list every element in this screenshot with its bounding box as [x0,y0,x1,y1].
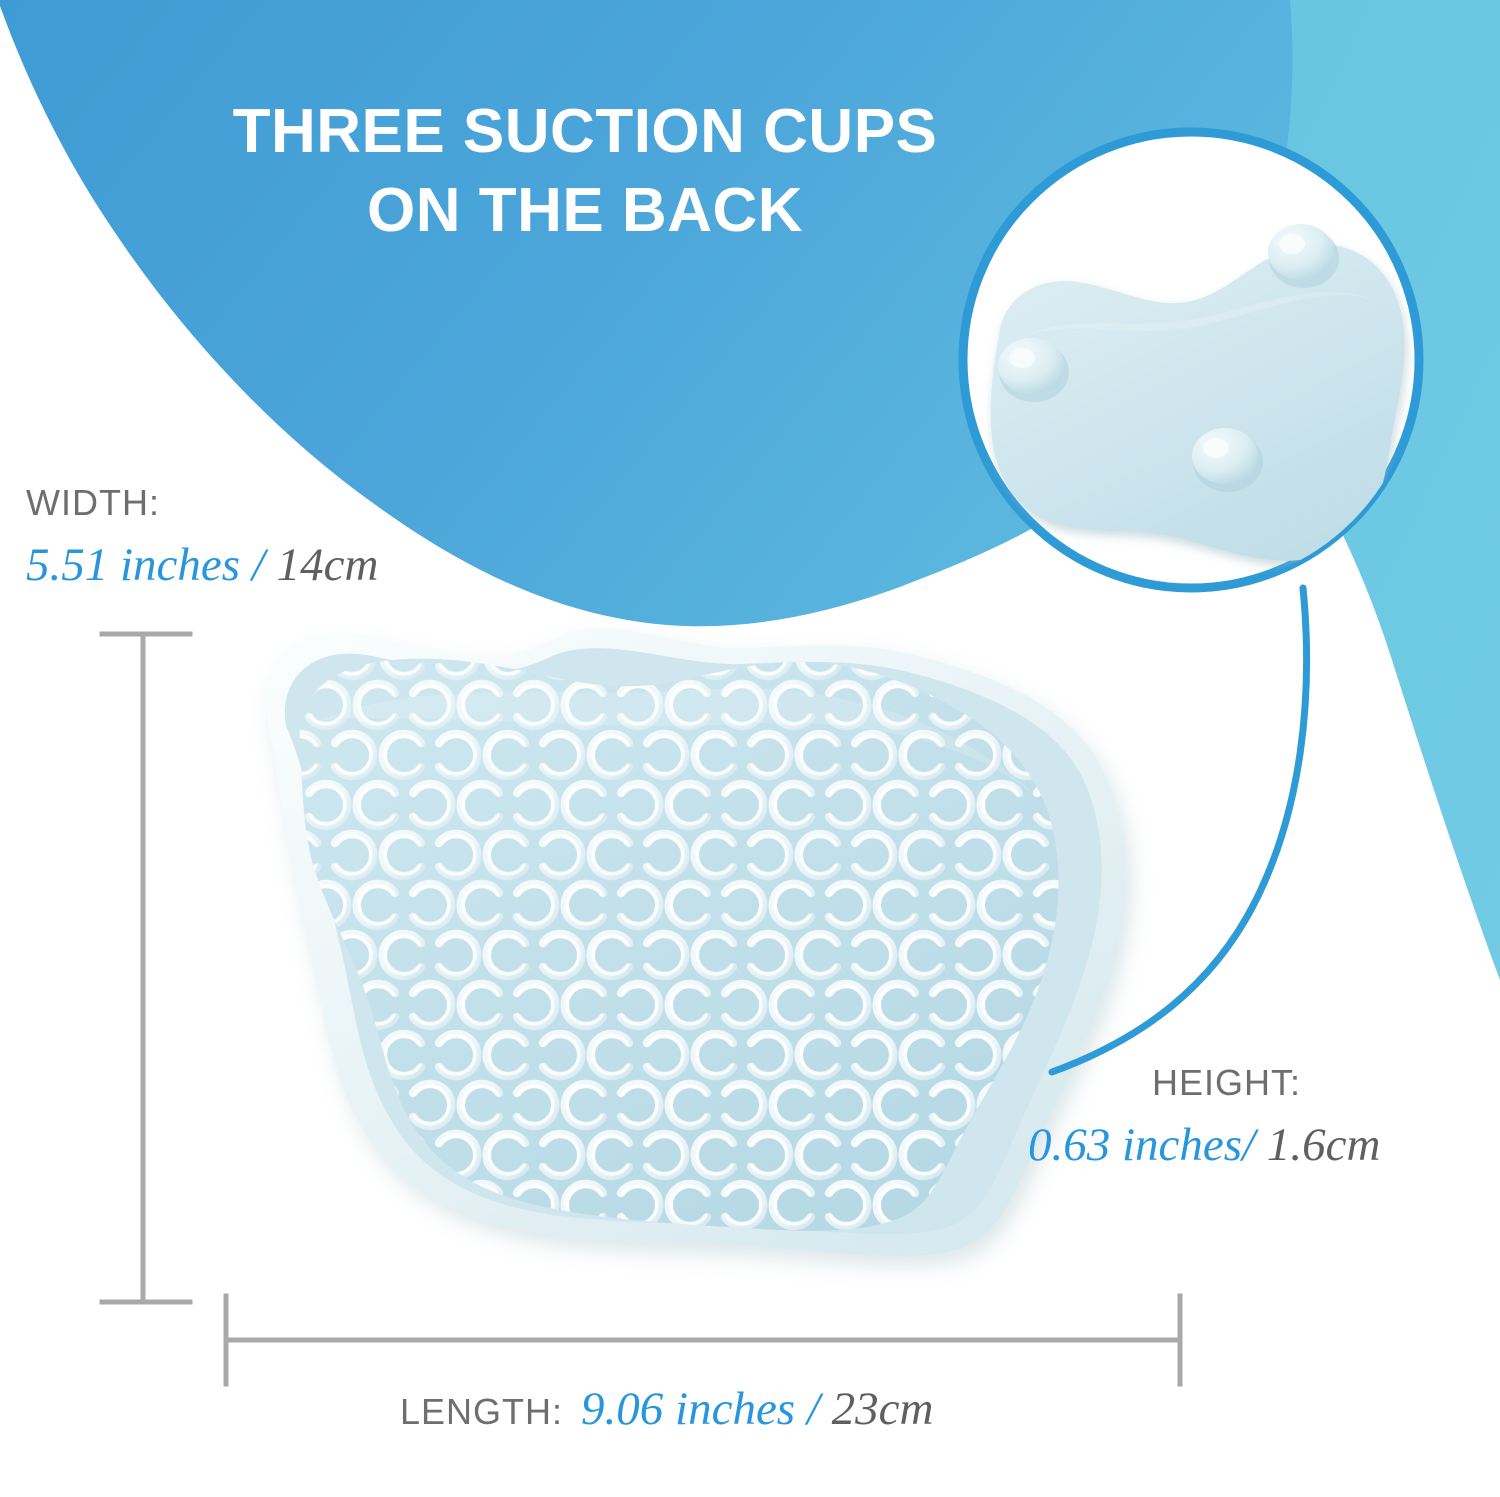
height-value-imperial: 0.63 inches/ [1028,1119,1255,1171]
height-value-separator [1255,1119,1267,1171]
width-value-metric: 14cm [277,539,379,591]
height-label: HEIGHT: [1152,1062,1301,1104]
length-value-metric: 23cm [832,1383,934,1435]
width-value-imperial: 5.51 inches [26,539,240,591]
length-label: LENGTH: [400,1391,563,1432]
width-value: 5.51 inches / 14cm [26,538,378,592]
page-title: THREE SUCTION CUPS ON THE BACK [170,92,1000,251]
infographic-canvas: THREE SUCTION CUPS ON THE BACK [0,0,1500,1497]
length-value-imperial: 9.06 inches [581,1383,795,1435]
length-row: LENGTH:9.06 inches / 23cm [400,1382,933,1436]
width-value-separator: / [240,539,277,591]
height-value-metric: 1.6cm [1267,1119,1381,1171]
length-value-separator: / [795,1383,832,1435]
heading-line-1: THREE SUCTION CUPS [233,97,938,166]
heading-line-2: ON THE BACK [170,171,1000,250]
width-label: WIDTH: [26,482,160,524]
height-value: 0.63 inches/ 1.6cm [1028,1118,1380,1172]
